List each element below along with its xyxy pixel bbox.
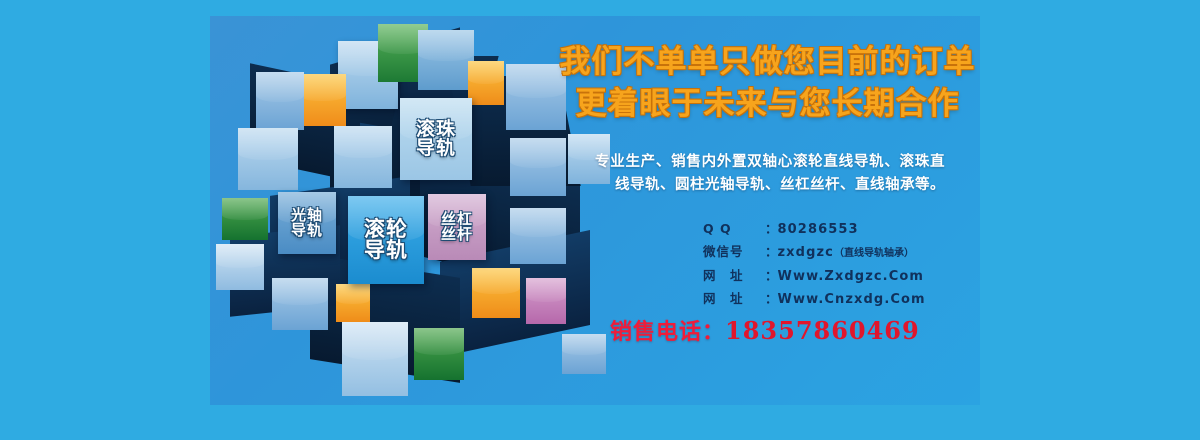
product-cube-label-line2: 导轨	[364, 238, 408, 262]
contact-value-wechat[interactable]: zxdgzc	[778, 242, 834, 264]
contact-label-website: 网 址	[703, 265, 765, 287]
banner-advertisement: 滚珠 导轨 光轴 导轨 滚轮 导轨	[0, 0, 1200, 440]
product-cube-label-line2: 导轨	[416, 137, 456, 159]
decorative-cube	[336, 284, 370, 322]
contact-row-qq: Q Q ： 80286553	[703, 218, 980, 241]
contact-value-website-2[interactable]: Www.Cnzxdg.Com	[778, 289, 926, 311]
contact-note-wechat: （直线导轨轴承）	[834, 245, 914, 262]
contact-separator: ：	[765, 288, 778, 310]
contact-label-website: 网 址	[703, 288, 765, 310]
sales-phone[interactable]: 销售电话： 18357860469	[610, 314, 920, 346]
banner-panel: 滚珠 导轨 光轴 导轨 滚轮 导轨	[210, 16, 980, 405]
contact-row-website-2: 网 址 ： Www.Cnzxdg.Com	[703, 288, 980, 311]
contact-block: Q Q ： 80286553 微信号 ： zxdgzc （直线导轨轴承） 网 址…	[703, 218, 980, 311]
banner-copy: 我们不单单只做您目前的订单 更着眼于未来与您长期合作 专业生产、销售内外置双轴心…	[555, 16, 980, 405]
product-cube-gunzhu-daogui[interactable]: 滚珠 导轨	[400, 98, 472, 180]
contact-label-qq: Q Q	[703, 218, 765, 240]
decorative-cube	[418, 30, 474, 90]
description-text: 专业生产、销售内外置双轴心滚轮直线导轨、滚珠直线导轨、圆柱光轴导轨、丝杠丝杆、直…	[595, 151, 945, 198]
decorative-cube	[342, 322, 408, 396]
decorative-cube	[238, 128, 298, 190]
headline-line-1: 我们不单单只做您目前的订单	[555, 42, 980, 84]
decorative-cube	[468, 61, 504, 105]
headline: 我们不单单只做您目前的订单 更着眼于未来与您长期合作	[555, 42, 980, 126]
contact-separator: ：	[765, 218, 778, 240]
contact-label-wechat: 微信号	[703, 241, 765, 263]
sales-phone-number[interactable]: 18357860469	[725, 316, 920, 345]
decorative-cube	[298, 74, 346, 126]
product-cube-gunlun-daogui[interactable]: 滚轮 导轨	[348, 196, 424, 284]
contact-row-wechat: 微信号 ： zxdgzc （直线导轨轴承）	[703, 241, 980, 264]
decorative-cube	[222, 198, 268, 240]
decorative-cube	[334, 126, 392, 188]
contact-separator: ：	[765, 241, 778, 263]
product-cube-label-line1: 滚轮	[364, 217, 408, 241]
decorative-cube	[272, 278, 328, 330]
contact-separator: ：	[765, 265, 778, 287]
product-cube-sigang-sigan[interactable]: 丝杠 丝杆	[428, 194, 486, 260]
headline-line-2: 更着眼于未来与您长期合作	[555, 84, 980, 126]
contact-row-website-1: 网 址 ： Www.Zxdgzc.Com	[703, 265, 980, 288]
contact-value-website-1[interactable]: Www.Zxdgzc.Com	[778, 266, 925, 288]
decorative-cube	[472, 268, 520, 318]
decorative-cube	[414, 328, 464, 380]
sales-phone-label: 销售电话：	[610, 314, 725, 346]
decorative-cube	[216, 244, 264, 290]
product-cube-label-line2: 导轨	[291, 221, 323, 239]
product-cube-label-line2: 丝杆	[441, 225, 473, 243]
contact-value-qq[interactable]: 80286553	[778, 219, 859, 241]
decorative-cube	[256, 72, 304, 130]
product-cube-guangzhou-daogui[interactable]: 光轴 导轨	[278, 192, 336, 254]
